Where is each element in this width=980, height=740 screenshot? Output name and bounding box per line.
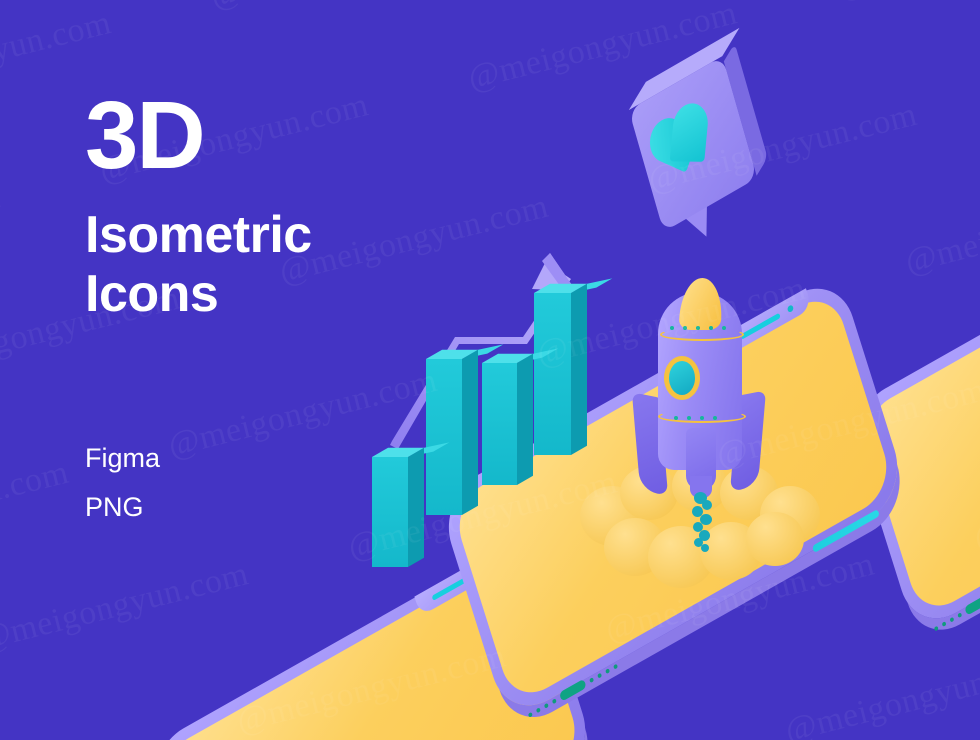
- format-item-figma: Figma: [85, 445, 160, 472]
- poster-canvas: 3D Isometric Icons Figma PNG @meigongyun…: [0, 0, 980, 740]
- rivet-icon: [687, 416, 691, 420]
- rocket-window: [664, 356, 700, 400]
- bar-front-face: [372, 457, 408, 567]
- bar-front-face: [426, 359, 462, 515]
- bar-side-face: [408, 448, 424, 567]
- watermark-text: @meigongyun.com: [781, 647, 980, 740]
- watermark-text: @meigongyun.com: [0, 555, 253, 659]
- rivet-icon: [709, 326, 713, 330]
- watermark-text: @meigongyun.com: [901, 178, 980, 282]
- rocket-nose-cone: [679, 278, 724, 330]
- page-subtitle: Isometric Icons: [85, 206, 312, 322]
- speaker-hole-icon: [605, 668, 610, 674]
- speaker-hole-icon: [934, 625, 939, 631]
- watermark-row: @meigongyun.com@meigongyun.com@meigongyu…: [0, 0, 980, 6]
- rivet-icon: [696, 326, 700, 330]
- rivet-icon: [713, 416, 717, 420]
- chat-bubble-heart: [629, 56, 757, 232]
- rivet-icon: [700, 416, 704, 420]
- watermark-text: @meigongyun.com: [0, 178, 4, 282]
- subtitle-line-2: Icons: [85, 265, 312, 323]
- rivet-icon: [674, 416, 678, 420]
- watermark-text: @meigongyun.com: [0, 729, 141, 740]
- speaker-hole-icon: [589, 677, 594, 683]
- exhaust-particle: [702, 500, 712, 510]
- exhaust-particle: [701, 544, 709, 552]
- speaker-hole-icon: [552, 698, 557, 704]
- bar-2: [426, 359, 462, 515]
- speaker-hole-icon: [528, 711, 533, 717]
- bar-front-face: [534, 293, 571, 455]
- rocket-exhaust: [690, 492, 716, 552]
- speaker-hole-icon: [597, 672, 602, 678]
- speaker-hole-icon: [536, 707, 541, 713]
- watermark-text: @meigongyun.com: [833, 0, 980, 6]
- speaker-hole-icon: [613, 663, 618, 669]
- bar-front-face: [482, 363, 517, 485]
- format-item-png: PNG: [85, 494, 160, 521]
- speaker-hole-icon: [949, 616, 954, 622]
- watermark-text: @meigongyun.com: [207, 0, 484, 16]
- bar-3: [482, 363, 517, 485]
- watermark-text: @meigongyun.com: [0, 454, 73, 558]
- heart-lobe-right: [670, 103, 710, 162]
- bar-side-face: [571, 284, 587, 455]
- speaker-hole-icon: [942, 621, 947, 627]
- growth-bar-chart: [360, 245, 610, 575]
- format-list: Figma PNG: [85, 445, 160, 543]
- bar-4: [534, 293, 571, 455]
- rocket-rivets-lower: [674, 416, 717, 420]
- rivet-icon: [670, 326, 674, 330]
- bar-side-face: [517, 354, 533, 485]
- rocket: [630, 278, 770, 528]
- rivet-icon: [683, 326, 687, 330]
- speaker-hole-icon: [957, 612, 962, 618]
- bar-side-face: [462, 350, 478, 515]
- subtitle-line-1: Isometric: [85, 206, 312, 264]
- rocket-rivets-upper: [670, 326, 726, 330]
- front-camera-icon: [786, 304, 793, 313]
- speaker-hole-icon: [544, 702, 549, 708]
- bar-1: [372, 457, 408, 567]
- hero-copy: 3D Isometric Icons: [85, 92, 312, 323]
- page-title: 3D: [85, 92, 312, 180]
- rivet-icon: [722, 326, 726, 330]
